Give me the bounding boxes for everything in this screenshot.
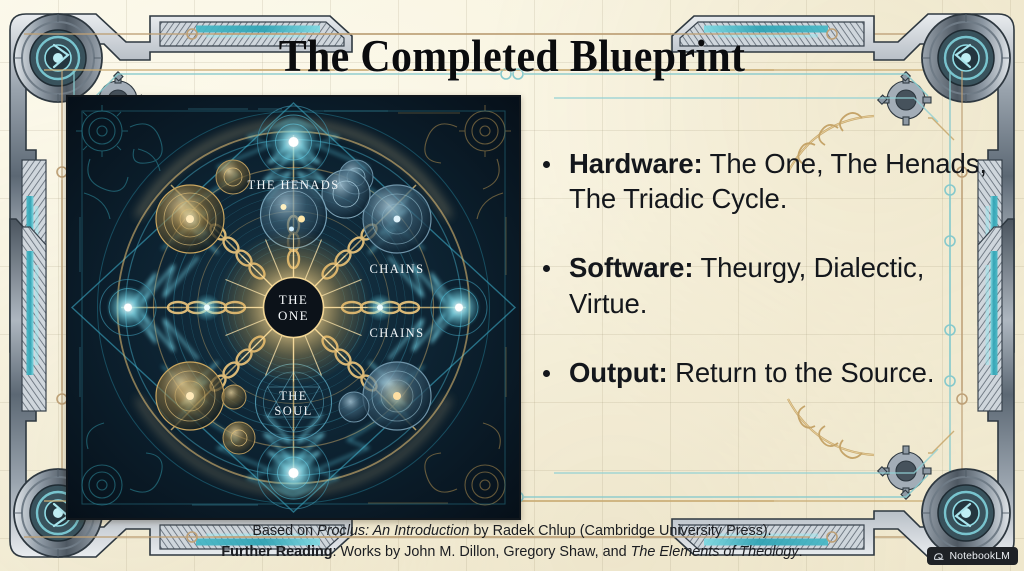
label-the-henads: THE HENADS [247,178,339,192]
bullet-dot-icon [543,370,550,377]
notebooklm-label: NotebookLM [949,550,1010,562]
label-the-one-line1: THE [279,292,308,307]
footer-line-1: Based on Proclus: An Introduction by Rad… [0,521,1024,541]
bullet-text: Hardware: The One, The Henads, The Triad… [569,146,988,216]
notebooklm-watermark: NotebookLM [927,547,1018,565]
slide-canvas: The Completed Blueprint [0,0,1024,571]
mandala-svg: THE HENADS CHAINS CHAINS THE SOUL THE ON… [68,97,519,518]
label-chains-upper: CHAINS [370,262,425,276]
label-the-soul-line1: THE [279,389,308,403]
notebooklm-spiral-icon [933,550,945,562]
list-item: Output: Return to the Source. [536,355,988,390]
label-the-one-line2: ONE [278,308,309,323]
bullet-rest: Return to the Source. [668,357,935,388]
footer-line1-title: Proclus: An Introduction [317,523,469,539]
label-the-soul-line2: SOUL [274,404,312,418]
footer-citation: Based on Proclus: An Introduction by Rad… [0,521,1024,562]
footer-line-2: Further Reading: Works by John M. Dillon… [0,542,1024,562]
bullet-list: Hardware: The One, The Henads, The Triad… [536,146,988,390]
footer-line2-title: The Elements of Theology [631,544,799,560]
blueprint-mandala-image: THE HENADS CHAINS CHAINS THE SOUL THE ON… [66,95,521,520]
slide-title: The Completed Blueprint [36,30,988,82]
bullet-lead: Software: [569,252,693,283]
footer-line1-post: by Radek Chlup (Cambridge University Pre… [469,523,771,539]
footer-line2-mid: : Works by John M. Dillon, Gregory Shaw,… [333,544,631,560]
bullet-lead: Hardware: [569,148,703,179]
label-chains-lower: CHAINS [370,326,425,340]
bullet-dot-icon [543,161,550,168]
list-item: Software: Theurgy, Dialectic, Virtue. [536,250,988,320]
bullet-dot-icon [543,265,550,272]
bullet-text: Output: Return to the Source. [569,355,934,390]
footer-line2-end: . [799,544,803,560]
footer-further-reading-label: Further Reading [221,544,332,560]
footer-line1-pre: Based on [252,523,317,539]
list-item: Hardware: The One, The Henads, The Triad… [536,146,988,216]
bullet-lead: Output: [569,357,668,388]
bullet-text: Software: Theurgy, Dialectic, Virtue. [569,250,988,320]
